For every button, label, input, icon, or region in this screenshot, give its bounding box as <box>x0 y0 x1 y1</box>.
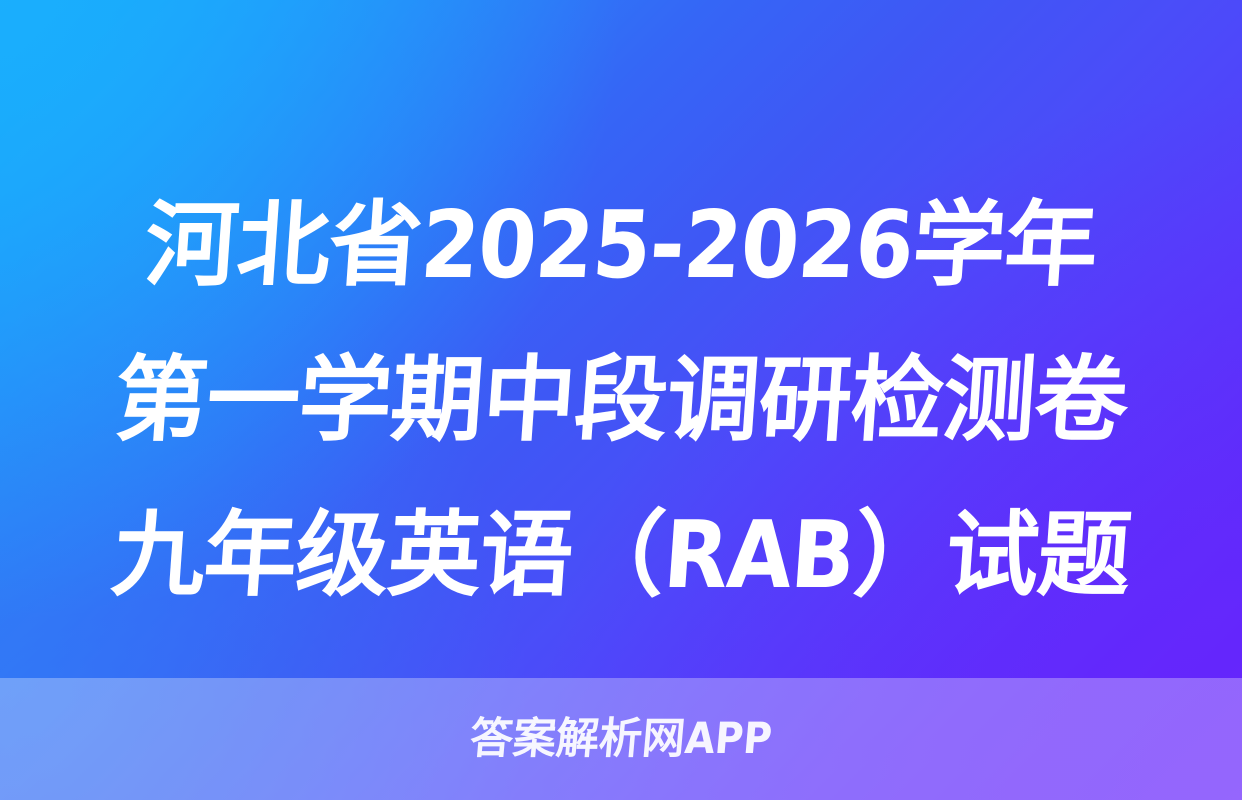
title-line-2: 第一学期中段调研检测卷 <box>19 323 1224 478</box>
app-watermark-label: 答案解析网APP <box>468 718 773 761</box>
title-line-1: 河北省2025-2026学年 <box>19 168 1224 323</box>
page-title: 河北省2025-2026学年 第一学期中段调研检测卷 九年级英语（RAB）试题 <box>0 168 1242 633</box>
title-line-3: 九年级英语（RAB）试题 <box>19 478 1224 633</box>
exam-cover-poster: 河北省2025-2026学年 第一学期中段调研检测卷 九年级英语（RAB）试题 … <box>0 0 1242 800</box>
footer-watermark-band: 答案解析网APP <box>0 678 1242 800</box>
